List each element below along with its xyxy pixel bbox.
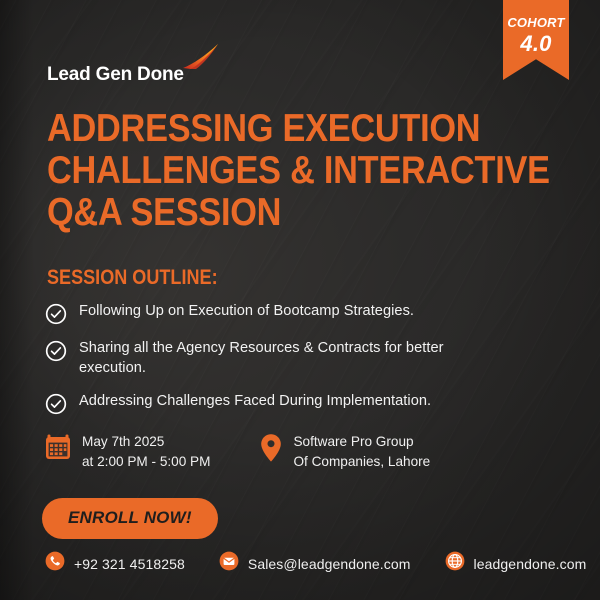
phone-icon xyxy=(45,551,65,576)
list-item-label: Following Up on Execution of Bootcamp St… xyxy=(79,302,414,322)
event-date-line-1: May 7th 2025 xyxy=(82,434,164,449)
event-venue-line-2: Of Companies, Lahore xyxy=(293,454,430,469)
brand-logo: Lead Gen Done xyxy=(47,42,221,84)
footer-contacts: +92 321 4518258 Sales@leadgendone.com xyxy=(45,551,586,576)
headline-line-1: Addressing Execution xyxy=(47,108,425,150)
session-outline-list: Following Up on Execution of Bootcamp St… xyxy=(45,302,515,429)
event-venue-line-1: Software Pro Group xyxy=(293,434,413,449)
headline: Addressing Execution Challenges & Intera… xyxy=(47,108,425,234)
list-item-label: Addressing Challenges Faced During Imple… xyxy=(79,392,431,412)
arrow-swoosh-icon xyxy=(181,42,221,75)
calendar-icon xyxy=(45,433,71,466)
event-date-text: May 7th 2025 at 2:00 PM - 5:00 PM xyxy=(82,432,210,473)
cohort-badge-label: COHORT xyxy=(503,15,569,30)
headline-line-2: Challenges & Interactive xyxy=(47,150,425,192)
list-item-label: Sharing all the Agency Resources & Contr… xyxy=(79,339,499,378)
globe-icon xyxy=(445,551,465,576)
list-item: Addressing Challenges Faced During Imple… xyxy=(45,392,515,415)
list-item: Following Up on Execution of Bootcamp St… xyxy=(45,302,515,325)
cohort-badge-value: 4.0 xyxy=(503,31,569,57)
background-left-shadow xyxy=(0,0,34,600)
list-item: Sharing all the Agency Resources & Contr… xyxy=(45,339,515,378)
check-circle-icon xyxy=(45,393,67,415)
contact-website[interactable]: leadgendone.com xyxy=(445,551,587,576)
event-meta: May 7th 2025 at 2:00 PM - 5:00 PM Softwa… xyxy=(45,432,430,473)
location-pin-icon xyxy=(260,433,282,468)
event-date-block: May 7th 2025 at 2:00 PM - 5:00 PM xyxy=(45,432,210,473)
contact-phone-label: +92 321 4518258 xyxy=(74,556,185,572)
brand-logo-text: Lead Gen Done xyxy=(47,65,184,84)
contact-email-label: Sales@leadgendone.com xyxy=(248,556,411,572)
contact-email[interactable]: Sales@leadgendone.com xyxy=(219,551,411,576)
check-circle-icon xyxy=(45,303,67,325)
contact-phone[interactable]: +92 321 4518258 xyxy=(45,551,185,576)
contact-website-label: leadgendone.com xyxy=(474,556,587,572)
envelope-icon xyxy=(219,551,239,576)
event-venue-text: Software Pro Group Of Companies, Lahore xyxy=(293,432,430,473)
headline-line-3: Q&A Session xyxy=(47,192,425,234)
session-outline-title: Session Outline: xyxy=(47,266,218,290)
event-date-line-2: at 2:00 PM - 5:00 PM xyxy=(82,454,210,469)
enroll-now-button[interactable]: ENROLL NOW! xyxy=(42,498,218,539)
check-circle-icon xyxy=(45,340,67,362)
event-venue-block: Software Pro Group Of Companies, Lahore xyxy=(260,432,430,473)
promo-poster: COHORT 4.0 Lead Gen Done xyxy=(0,0,600,600)
